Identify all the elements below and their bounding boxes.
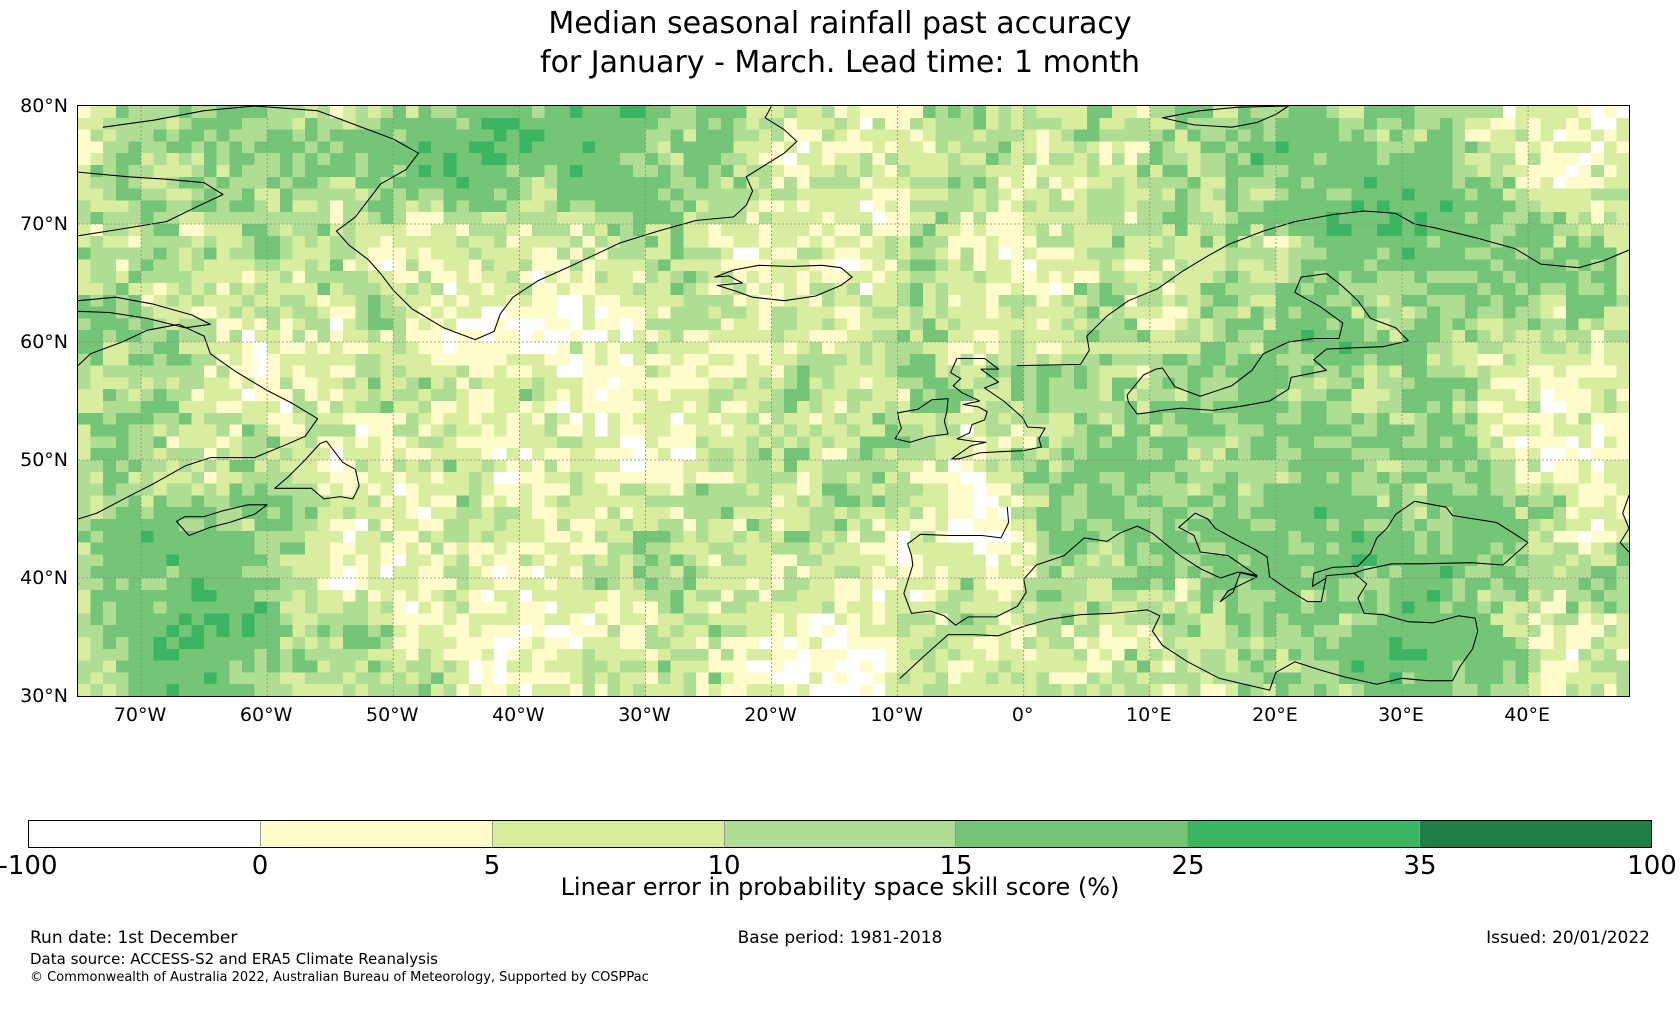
x-tick-40°W: 40°W [473, 704, 563, 726]
page-title: Median seasonal rainfall past accuracy f… [0, 4, 1680, 82]
y-tick-50°N: 50°N [4, 449, 68, 471]
footer-copyright: © Commonwealth of Australia 2022, Austra… [30, 970, 649, 985]
colorbar-segment-2[interactable] [492, 821, 724, 847]
x-tick-30°E: 30°E [1356, 704, 1446, 726]
colorbar[interactable] [28, 820, 1652, 848]
x-tick-10°W: 10°W [852, 704, 942, 726]
x-tick-50°W: 50°W [347, 704, 437, 726]
x-tick-70°W: 70°W [95, 704, 185, 726]
colorbar-segment-1[interactable] [260, 821, 492, 847]
colorbar-segment-0[interactable] [29, 821, 260, 847]
y-tick-80°N: 80°N [4, 95, 68, 117]
colorbar-label: Linear error in probability space skill … [0, 873, 1680, 901]
colorbar-segment-6[interactable] [1419, 821, 1651, 847]
x-tick-20°W: 20°W [726, 704, 816, 726]
x-tick-10°E: 10°E [1104, 704, 1194, 726]
x-tick-60°W: 60°W [221, 704, 311, 726]
footer-issued: Issued: 20/01/2022 [1486, 928, 1650, 948]
graticule-grid [78, 106, 1629, 696]
footer-data-source: Data source: ACCESS-S2 and ERA5 Climate … [30, 950, 438, 968]
y-tick-60°N: 60°N [4, 331, 68, 353]
x-tick-40°E: 40°E [1482, 704, 1572, 726]
y-tick-40°N: 40°N [4, 567, 68, 589]
footer-base-period: Base period: 1981-2018 [0, 928, 1680, 948]
x-tick-0°: 0° [978, 704, 1068, 726]
y-tick-30°N: 30°N [4, 685, 68, 707]
colorbar-segment-3[interactable] [724, 821, 956, 847]
x-tick-20°E: 20°E [1230, 704, 1320, 726]
x-tick-30°W: 30°W [599, 704, 689, 726]
map-plot-area [77, 105, 1630, 697]
y-tick-70°N: 70°N [4, 213, 68, 235]
colorbar-segment-4[interactable] [955, 821, 1187, 847]
colorbar-segment-5[interactable] [1187, 821, 1419, 847]
